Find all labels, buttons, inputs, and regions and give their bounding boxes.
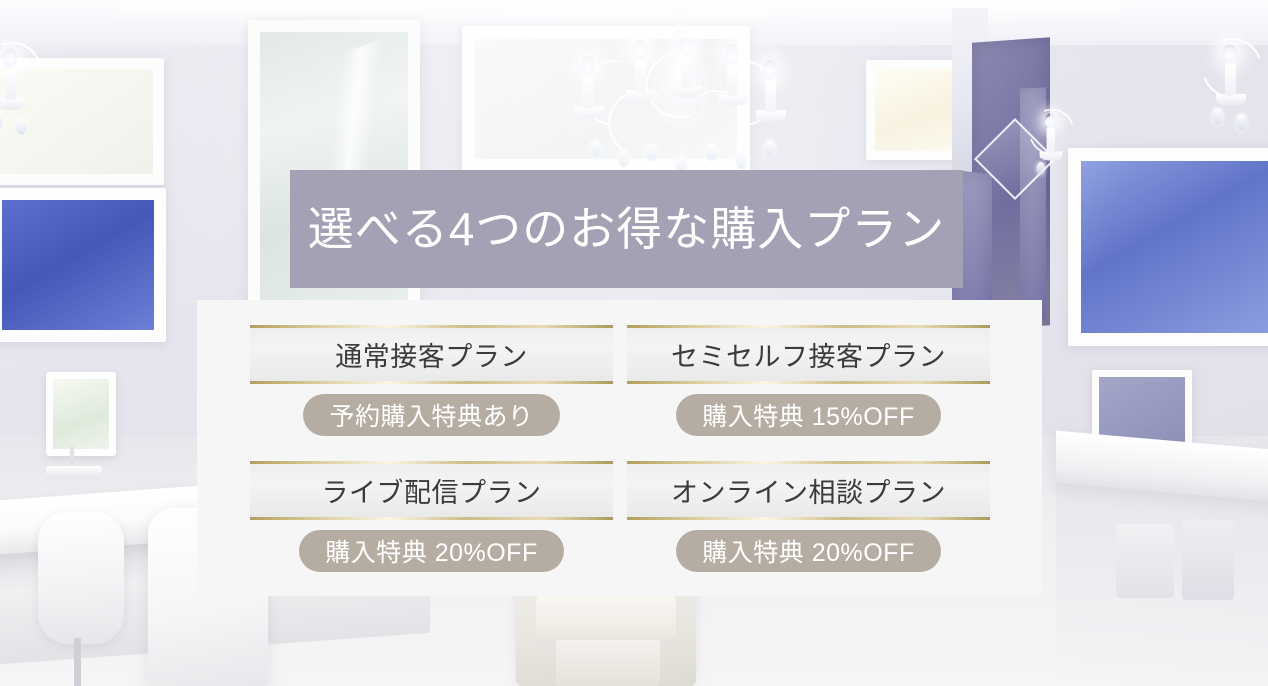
page-root: 選べる4つのお得な購入プラン 通常接客プラン 予約購入特典あり セミセルフ接客プ… <box>0 0 1268 686</box>
plan-card-online[interactable]: オンライン相談プラン 購入特典 20%OFF <box>627 461 990 572</box>
plan-badge-semiself: 購入特典 15%OFF <box>676 394 940 436</box>
plan-badge-row-online: 購入特典 20%OFF <box>627 530 990 572</box>
plan-header-live: ライブ配信プラン <box>250 461 613 520</box>
plan-header-semiself: セミセルフ接客プラン <box>627 325 990 384</box>
plan-title-online: オンライン相談プラン <box>671 471 946 510</box>
plan-badge-row-live: 購入特典 20%OFF <box>250 530 613 572</box>
wall-sconce-left-icon <box>0 24 46 134</box>
salon-chair-arm-icon <box>38 512 124 644</box>
plan-title-semiself: セミセルフ接客プラン <box>671 335 946 374</box>
plan-grid: 通常接客プラン 予約購入特典あり セミセルフ接客プラン 購入特典 15%OFF … <box>250 325 990 572</box>
plan-header-normal: 通常接客プラン <box>250 325 613 384</box>
framed-display-right-icon <box>1068 148 1268 346</box>
table-mirror-base <box>46 466 102 479</box>
chandelier-icon <box>560 0 800 184</box>
plan-card-normal[interactable]: 通常接客プラン 予約購入特典あり <box>250 325 613 436</box>
storage-bin-icon <box>1116 524 1174 598</box>
plan-card-semiself[interactable]: セミセルフ接客プラン 購入特典 15%OFF <box>627 325 990 436</box>
plan-badge-row-semiself: 購入特典 15%OFF <box>627 394 990 436</box>
wall-sconce-right-icon <box>1196 20 1266 130</box>
table-mirror-stand <box>70 446 74 468</box>
plan-card-live[interactable]: ライブ配信プラン 購入特典 20%OFF <box>250 461 613 572</box>
upholstered-chair-seat <box>536 596 676 638</box>
plan-badge-online: 購入特典 20%OFF <box>676 530 940 572</box>
hero-title-band: 選べる4つのお得な購入プラン <box>290 170 963 288</box>
plan-title-normal: 通常接客プラン <box>335 335 528 374</box>
plan-badge-live: 購入特典 20%OFF <box>299 530 563 572</box>
wall-sconce-center-right-icon <box>1024 95 1077 179</box>
page-title: 選べる4つのお得な購入プラン <box>308 206 946 252</box>
framed-display-left-icon <box>0 188 166 342</box>
upholstered-chair-legs <box>556 640 660 686</box>
table-mirror-icon <box>46 372 116 456</box>
plan-header-online: オンライン相談プラン <box>627 461 990 520</box>
storage-bin-2-icon <box>1182 520 1234 600</box>
plan-badge-row-normal: 予約購入特典あり <box>250 394 613 436</box>
plan-badge-normal: 予約購入特典あり <box>303 394 559 436</box>
salon-chair-post <box>74 638 81 686</box>
plan-title-live: ライブ配信プラン <box>322 471 542 510</box>
